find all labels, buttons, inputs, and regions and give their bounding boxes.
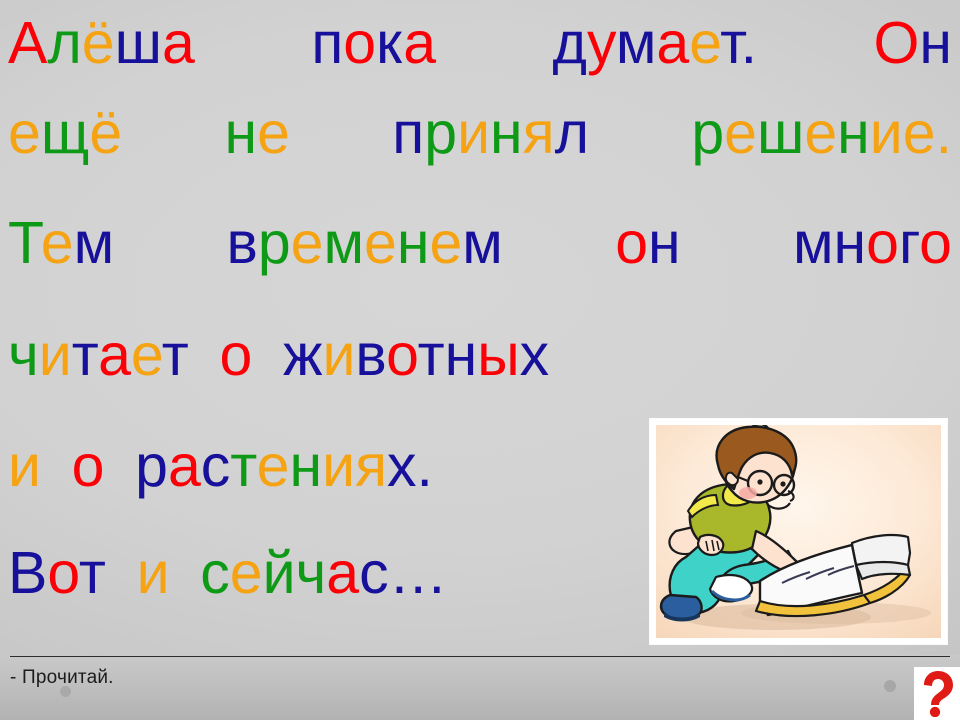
letter: О [873, 10, 919, 76]
text-line-2: ещёнепринялрешение. [8, 104, 952, 163]
letter: ч [296, 540, 327, 606]
boy-reading-book-image [650, 419, 947, 644]
letter: т [720, 10, 740, 76]
word: принял [392, 104, 589, 163]
letter: и [457, 100, 490, 166]
letter: ж [283, 322, 322, 388]
letter: ш [115, 10, 162, 76]
letter: т [79, 540, 106, 606]
decorative-dot-left [60, 686, 71, 697]
letter: л [555, 100, 589, 166]
word: сейчас… [200, 544, 447, 603]
letter: м [462, 210, 503, 276]
text-line-1: Алёшапокадумает.Он [8, 14, 952, 73]
letter: о [866, 210, 899, 276]
letter: а [168, 433, 201, 499]
letter: н [290, 433, 323, 499]
letter: в [226, 210, 257, 276]
word: Алёша [8, 14, 195, 73]
letter: и [137, 540, 170, 606]
letter: … [389, 540, 448, 606]
letter: е [131, 322, 162, 388]
letter: н [445, 322, 478, 388]
word: и [137, 544, 170, 603]
letter: м [74, 210, 115, 276]
letter: е [41, 210, 74, 276]
letter: т [72, 322, 98, 388]
text-line-3: Темвременемонмного [8, 214, 952, 273]
word: о [219, 326, 252, 385]
letter: . [936, 100, 952, 166]
letter: о [47, 540, 79, 606]
letter: . [417, 433, 433, 499]
letter: п [311, 10, 343, 76]
letter: с [201, 433, 231, 499]
letter: о [919, 210, 952, 276]
word: Он [873, 14, 952, 73]
letter: и [39, 322, 72, 388]
word: Тем [8, 214, 114, 273]
slide: Алёшапокадумает.Он ещёнепринялрешение. Т… [0, 0, 960, 720]
letter: н [225, 100, 258, 166]
letter: е [230, 540, 263, 606]
letter: м [323, 210, 364, 276]
word: растениях. [135, 437, 433, 496]
letter: х [387, 433, 417, 499]
letter: я [355, 433, 387, 499]
word: временем [226, 214, 502, 273]
letter: а [98, 322, 131, 388]
letter: м [793, 210, 834, 276]
letter: р [424, 100, 457, 166]
word: ещё [8, 104, 122, 163]
letter: е [8, 100, 41, 166]
letter: н [834, 210, 867, 276]
letter: н [919, 10, 952, 76]
letter: е [257, 100, 290, 166]
letter: е [689, 10, 720, 76]
letter: е [804, 100, 837, 166]
letter: и [870, 100, 903, 166]
letter: р [691, 100, 724, 166]
letter: н [397, 210, 430, 276]
letter: н [837, 100, 870, 166]
letter: е [903, 100, 936, 166]
letter: х [520, 322, 550, 388]
letter: р [135, 433, 168, 499]
letter: а [403, 10, 436, 76]
word: Вот [8, 544, 106, 603]
footer-bar [0, 655, 960, 720]
word: о [72, 437, 105, 496]
word: решение. [691, 104, 952, 163]
letter: е [257, 433, 290, 499]
letter: и [322, 322, 355, 388]
letter: ё [82, 10, 115, 76]
word: много [793, 214, 952, 273]
letter: п [392, 100, 424, 166]
text-line-4: читаетоживотных [8, 326, 952, 385]
letter: с [200, 540, 230, 606]
word: он [615, 214, 680, 273]
letter: о [343, 10, 376, 76]
decorative-dot-right [884, 680, 896, 692]
letter: ч [8, 322, 39, 388]
letter: д [553, 10, 587, 76]
letter: е [429, 210, 462, 276]
letter: щ [41, 100, 90, 166]
letter: н [648, 210, 681, 276]
footer-divider [10, 656, 950, 657]
letter: в [355, 322, 386, 388]
letter: а [162, 10, 195, 76]
word: думает. [553, 14, 757, 73]
word: пока [311, 14, 436, 73]
boy-reading-svg [656, 425, 941, 638]
letter: о [386, 322, 418, 388]
letter: е [364, 210, 397, 276]
letter: р [258, 210, 291, 276]
letter: т [418, 322, 445, 388]
letter: й [263, 540, 296, 606]
word: читает [8, 326, 189, 385]
letter: е [724, 100, 757, 166]
letter: а [326, 540, 359, 606]
letter: Т [8, 210, 41, 276]
letter: о [615, 210, 648, 276]
letter: В [8, 540, 47, 606]
boy-reading-book-illustration [656, 425, 941, 638]
letter: т [230, 433, 256, 499]
word: животных [283, 326, 549, 385]
letter: к [376, 10, 403, 76]
letter: м [616, 10, 657, 76]
letter: о [72, 433, 105, 499]
letter: о [219, 322, 252, 388]
footer-instruction: - Прочитай. [10, 667, 114, 689]
letter: ш [757, 100, 804, 166]
letter: ё [89, 100, 122, 166]
question-mark-icon [918, 671, 956, 717]
letter: е [291, 210, 324, 276]
letter: а [656, 10, 689, 76]
help-button[interactable] [914, 667, 960, 720]
letter: ы [477, 322, 519, 388]
letter: я [523, 100, 555, 166]
letter: с [359, 540, 389, 606]
letter: и [322, 433, 355, 499]
letter: . [741, 10, 757, 76]
letter: л [47, 10, 81, 76]
letter: у [587, 10, 616, 76]
letter: г [899, 210, 919, 276]
word: и [8, 437, 41, 496]
letter: т [162, 322, 189, 388]
word: не [225, 104, 290, 163]
letter: и [8, 433, 41, 499]
letter: А [8, 10, 47, 76]
letter: н [490, 100, 523, 166]
